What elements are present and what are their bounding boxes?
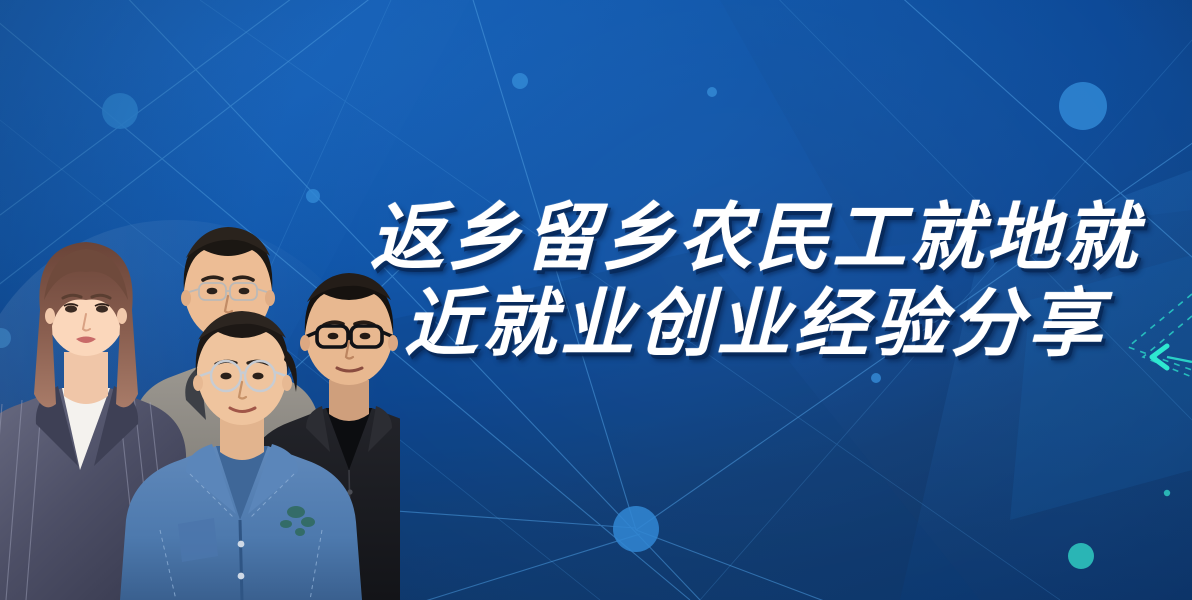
teal-dots (1068, 490, 1170, 569)
teal-dot-small (1164, 490, 1170, 496)
title-line-2: 近就业创业经验分享 (360, 282, 1150, 368)
title-line-1: 返乡留乡农民工就地就 (360, 196, 1150, 282)
banner-title: 返乡留乡农民工就地就 近就业创业经验分享 (360, 196, 1150, 368)
banner-root: 返乡留乡农民工就地就 近就业创业经验分享 (0, 0, 1192, 600)
cyan-chevron-icon (1152, 346, 1192, 368)
teal-dot-large (1068, 543, 1094, 569)
